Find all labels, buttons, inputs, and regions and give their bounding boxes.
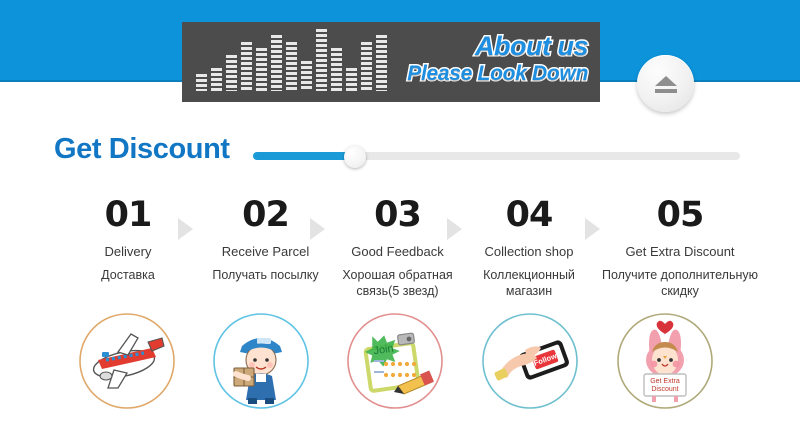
illustration-circle-05: Get ExtraDiscount <box>616 312 714 410</box>
equalizer-bar <box>226 55 237 91</box>
step-arrow-separator <box>447 218 462 240</box>
illustration-circle-04: Follow <box>481 312 579 410</box>
step-label-en: Get Extra Discount <box>600 244 760 260</box>
equalizer-bar <box>196 74 207 91</box>
step-01: 01DeliveryДоставка <box>68 196 188 283</box>
step-arrow-separator <box>585 218 600 240</box>
equalizer-bar <box>256 48 267 91</box>
get-discount-label: Get Discount <box>54 133 230 166</box>
step-label-ru: Получите дополнительную скидку <box>600 267 760 300</box>
step-number: 04 <box>464 196 594 235</box>
step-label-en: Receive Parcel <box>198 244 333 260</box>
banner-text-block: About us Please Look Down <box>407 33 588 84</box>
step-label-en: Delivery <box>68 244 188 260</box>
step-04: 04Collection shopКоллекционный магазин <box>464 196 594 299</box>
equalizer-bar <box>286 42 297 91</box>
slider-thumb[interactable] <box>344 146 366 168</box>
slider-fill <box>253 152 355 160</box>
equalizer-bar <box>346 68 357 91</box>
steps-row: 01DeliveryДоставка02Receive ParcelПолуча… <box>0 196 800 306</box>
phone-follow-icon: Follow <box>481 312 579 410</box>
step-arrow-separator <box>178 218 193 240</box>
equalizer-bar <box>331 48 342 91</box>
airplane-icon <box>78 312 176 410</box>
step-05: 05Get Extra DiscountПолучите дополнитель… <box>600 196 760 299</box>
feedback-form-icon: Join <box>346 312 444 410</box>
equalizer-bar <box>211 68 222 91</box>
illustration-circle-01 <box>78 312 176 410</box>
get-discount-row: Get Discount <box>0 133 800 177</box>
equalizer-bars <box>196 29 421 91</box>
step-arrow-separator <box>310 218 325 240</box>
equalizer-bar <box>241 42 252 91</box>
step-label-ru: Хорошая обратная связь(5 звезд) <box>330 267 465 300</box>
equalizer-bar <box>376 35 387 91</box>
svg-text:Get Extra: Get Extra <box>650 378 680 385</box>
step-label-en: Good Feedback <box>330 244 465 260</box>
equalizer-bar <box>301 61 312 91</box>
delivery-man-icon <box>212 312 310 410</box>
eject-icon <box>653 74 679 94</box>
step-number: 01 <box>68 196 188 235</box>
step-number: 03 <box>330 196 465 235</box>
equalizer-bar <box>361 42 372 91</box>
svg-text:Discount: Discount <box>651 386 678 393</box>
discount-slider[interactable] <box>253 147 740 165</box>
banner-subtitle: Please Look Down <box>407 63 588 84</box>
banner-title: About us <box>407 33 588 60</box>
about-us-banner: About us Please Look Down <box>182 22 600 102</box>
step-label-en: Collection shop <box>464 244 594 260</box>
step-number: 05 <box>600 196 760 235</box>
step-label-ru: Доставка <box>68 267 188 283</box>
step-label-ru: Коллекционный магазин <box>464 267 594 300</box>
illustration-circle-03: Join <box>346 312 444 410</box>
illustration-circle-02 <box>212 312 310 410</box>
equalizer-bar <box>316 29 327 91</box>
step-03: 03Good FeedbackХорошая обратная связь(5 … <box>330 196 465 299</box>
step-label-ru: Получать посылку <box>198 267 333 283</box>
equalizer-bar <box>271 35 282 91</box>
eject-button[interactable] <box>637 55 694 112</box>
bunny-sign-icon: Get ExtraDiscount <box>616 312 714 410</box>
illustration-circles-row: JoinFollowGet ExtraDiscount <box>0 312 800 434</box>
